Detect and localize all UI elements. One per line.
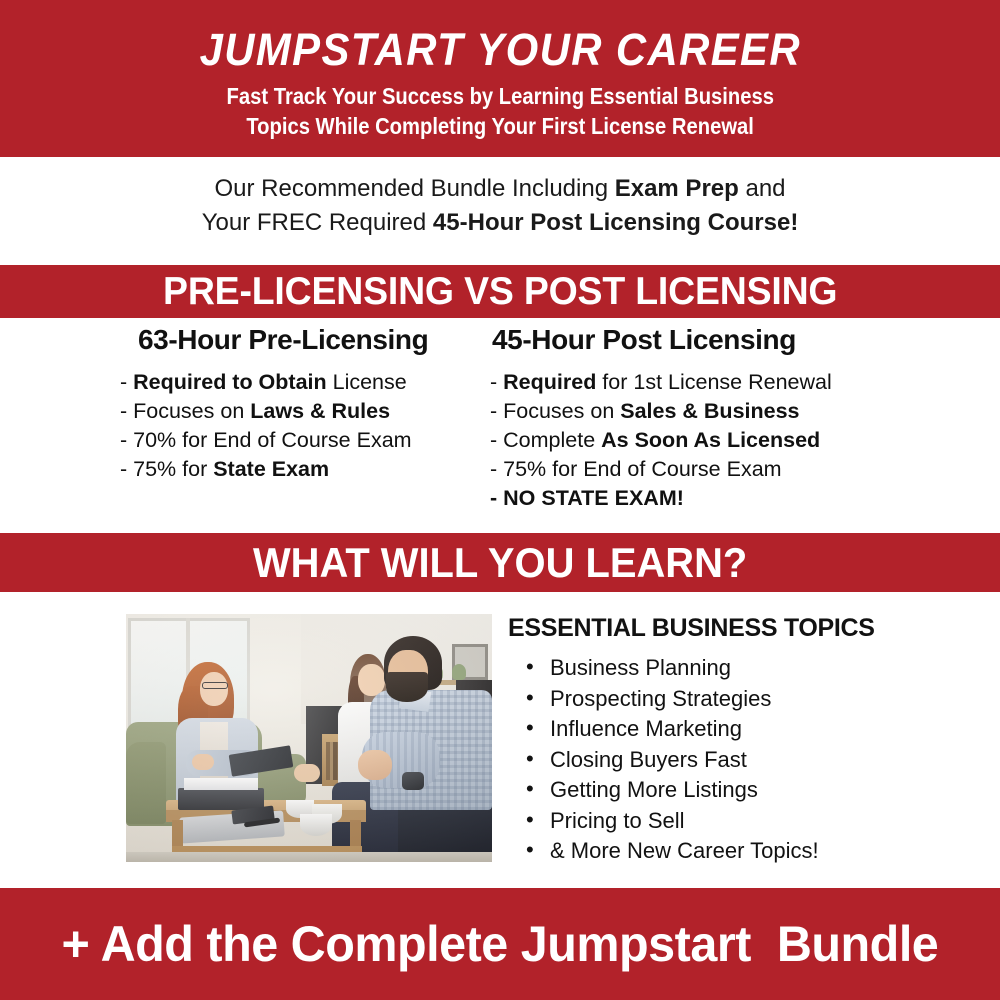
photo-lighting-overlay [126,614,492,862]
meeting-photo [126,614,492,862]
intro-line-1-text-after: and [739,175,786,202]
list-item: Influence Marketing [526,714,978,745]
list-item: & More New Career Topics! [526,836,978,867]
list-item: - Complete As Soon As Licensed [490,426,1000,455]
item-prefix: - Complete [490,428,601,452]
list-item: - Required for 1st License Renewal [490,368,1000,397]
list-item: Pricing to Sell [526,806,978,837]
list-item: - 75% for End of Course Exam [490,455,1000,484]
list-item: - Required to Obtain License [120,368,480,397]
item-prefix: - 75% for [120,457,213,481]
list-item: Closing Buyers Fast [526,745,978,776]
jumpstart-career-promo-poster: JUMPSTART YOUR CAREER Fast Track Your Su… [0,0,1000,1000]
item-prefix: - [490,370,503,394]
compare-banner: PRE-LICENSING VS POST LICENSING [0,265,1000,318]
post-licensing-list: - Required for 1st License Renewal - Foc… [490,368,1000,513]
learn-section: ESSENTIAL BUSINESS TOPICS Business Plann… [0,600,1000,882]
item-bold: As Soon As Licensed [601,428,820,452]
item-prefix: - Focuses on [120,399,250,423]
list-item: - Focuses on Laws & Rules [120,397,480,426]
cta-label: + Add the Complete Jumpstart Bundle [62,919,939,969]
intro-section: Our Recommended Bundle Including Exam Pr… [0,157,1000,255]
list-item: - 70% for End of Course Exam [120,426,480,455]
item-prefix: - 75% for End of Course Exam [490,457,782,481]
intro-line-2-text-before: Your FREC Required [202,209,433,236]
item-suffix: License [327,370,407,394]
hero-subtitle-line-1: Fast Track Your Success by Learning Esse… [226,81,773,111]
learn-banner: WHAT WILL YOU LEARN? [0,533,1000,592]
post-licensing-column: 45-Hour Post Licensing - Required for 1s… [480,326,1000,513]
intro-line-1: Our Recommended Bundle Including Exam Pr… [214,172,785,206]
learn-banner-heading: WHAT WILL YOU LEARN? [253,542,747,584]
compare-banner-heading: PRE-LICENSING VS POST LICENSING [163,272,837,311]
item-suffix: for 1st License Renewal [596,370,831,394]
item-prefix: - Focuses on [490,399,620,423]
intro-line-2: Your FREC Required 45-Hour Post Licensin… [202,206,799,240]
item-prefix: - [120,370,133,394]
item-prefix: - 70% for End of Course Exam [120,428,412,452]
item-bold: - NO STATE EXAM! [490,486,684,510]
hero-banner: JUMPSTART YOUR CAREER Fast Track Your Su… [0,0,1000,157]
item-bold: Required to Obtain [133,370,327,394]
item-bold: Laws & Rules [250,399,390,423]
cta-banner[interactable]: + Add the Complete Jumpstart Bundle [0,888,1000,1000]
list-item: Business Planning [526,653,978,684]
hero-subtitle-line-2: Topics While Completing Your First Licen… [246,111,754,141]
pre-licensing-title: 63-Hour Pre-Licensing [120,326,480,354]
item-bold: Sales & Business [620,399,799,423]
pre-licensing-list: - Required to Obtain License - Focuses o… [120,368,480,484]
list-item: Prospecting Strategies [526,684,978,715]
list-item: - Focuses on Sales & Business [490,397,1000,426]
comparison-section: 63-Hour Pre-Licensing - Required to Obta… [0,326,1000,526]
list-item: - NO STATE EXAM! [490,484,1000,513]
intro-line-2-emphasis: 45-Hour Post Licensing Course! [433,209,798,236]
intro-line-1-text-before: Our Recommended Bundle Including [214,175,614,202]
list-item: - 75% for State Exam [120,455,480,484]
hero-title: JUMPSTART YOUR CAREER [199,27,800,72]
topics-title: ESSENTIAL BUSINESS TOPICS [508,616,978,641]
post-licensing-title: 45-Hour Post Licensing [490,326,1000,354]
item-bold: Required [503,370,596,394]
intro-line-1-emphasis: Exam Prep [615,175,739,202]
list-item: Getting More Listings [526,775,978,806]
topics-list: Business Planning Prospecting Strategies… [508,653,978,867]
topics-block: ESSENTIAL BUSINESS TOPICS Business Plann… [508,616,978,867]
pre-licensing-column: 63-Hour Pre-Licensing - Required to Obta… [0,326,480,484]
item-bold: State Exam [213,457,329,481]
